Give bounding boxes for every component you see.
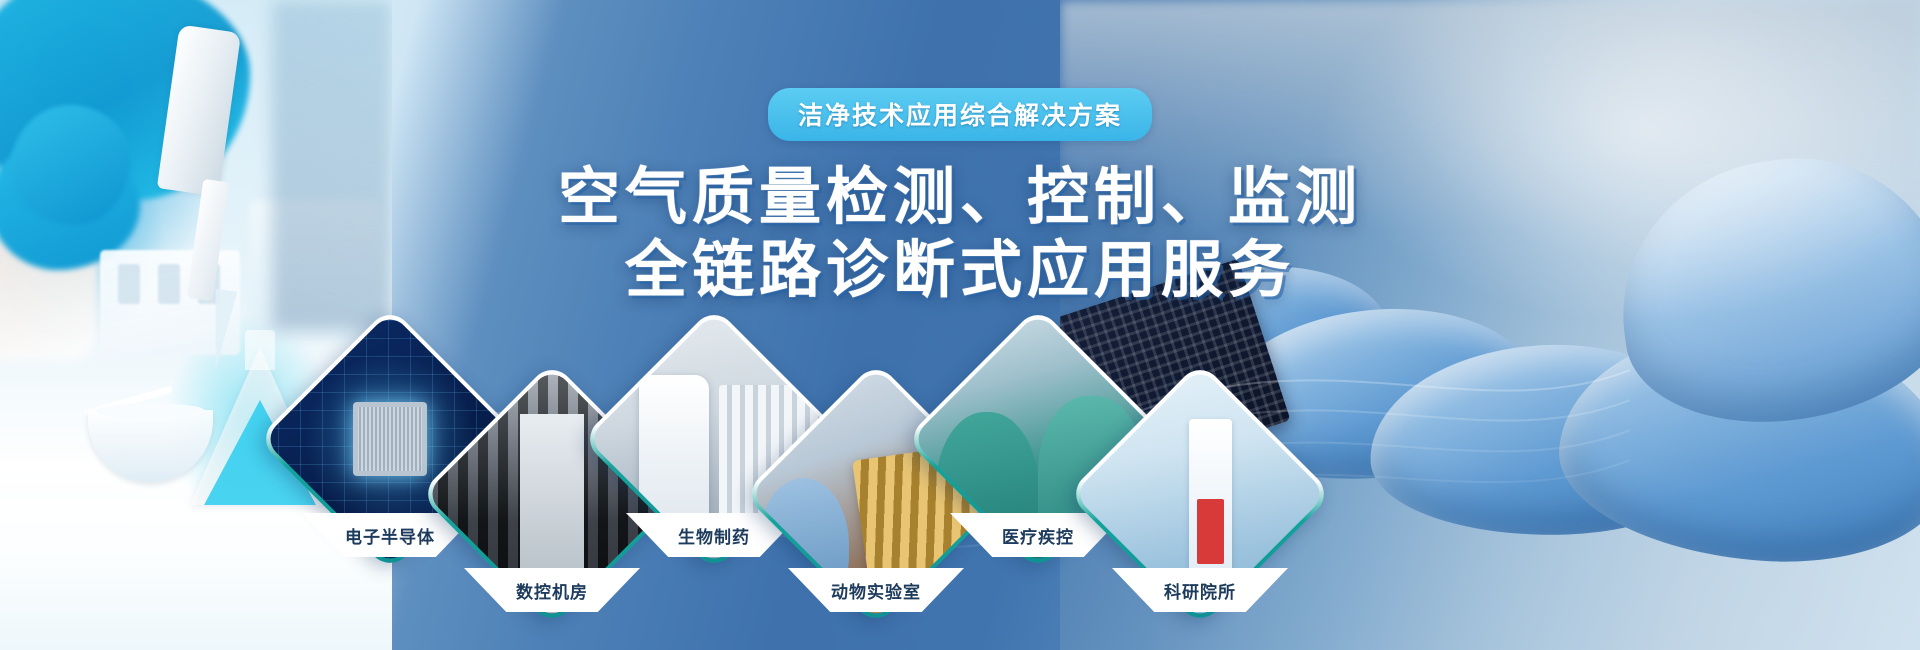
hero-banner: 洁净技术应用综合解决方案 空气质量检测、控制、监测 全链路诊断式应用服务 电子半…	[0, 0, 1920, 650]
card-label-research: 科研院所	[1095, 578, 1305, 603]
card-research[interactable]: 科研院所	[1106, 400, 1294, 588]
card-label-data-center: 数控机房	[447, 578, 657, 603]
industry-card-strip: 电子半导体 数控机房 生物制药 动物实验室	[0, 0, 1920, 650]
card-label-animal-lab: 动物实验室	[771, 578, 981, 603]
